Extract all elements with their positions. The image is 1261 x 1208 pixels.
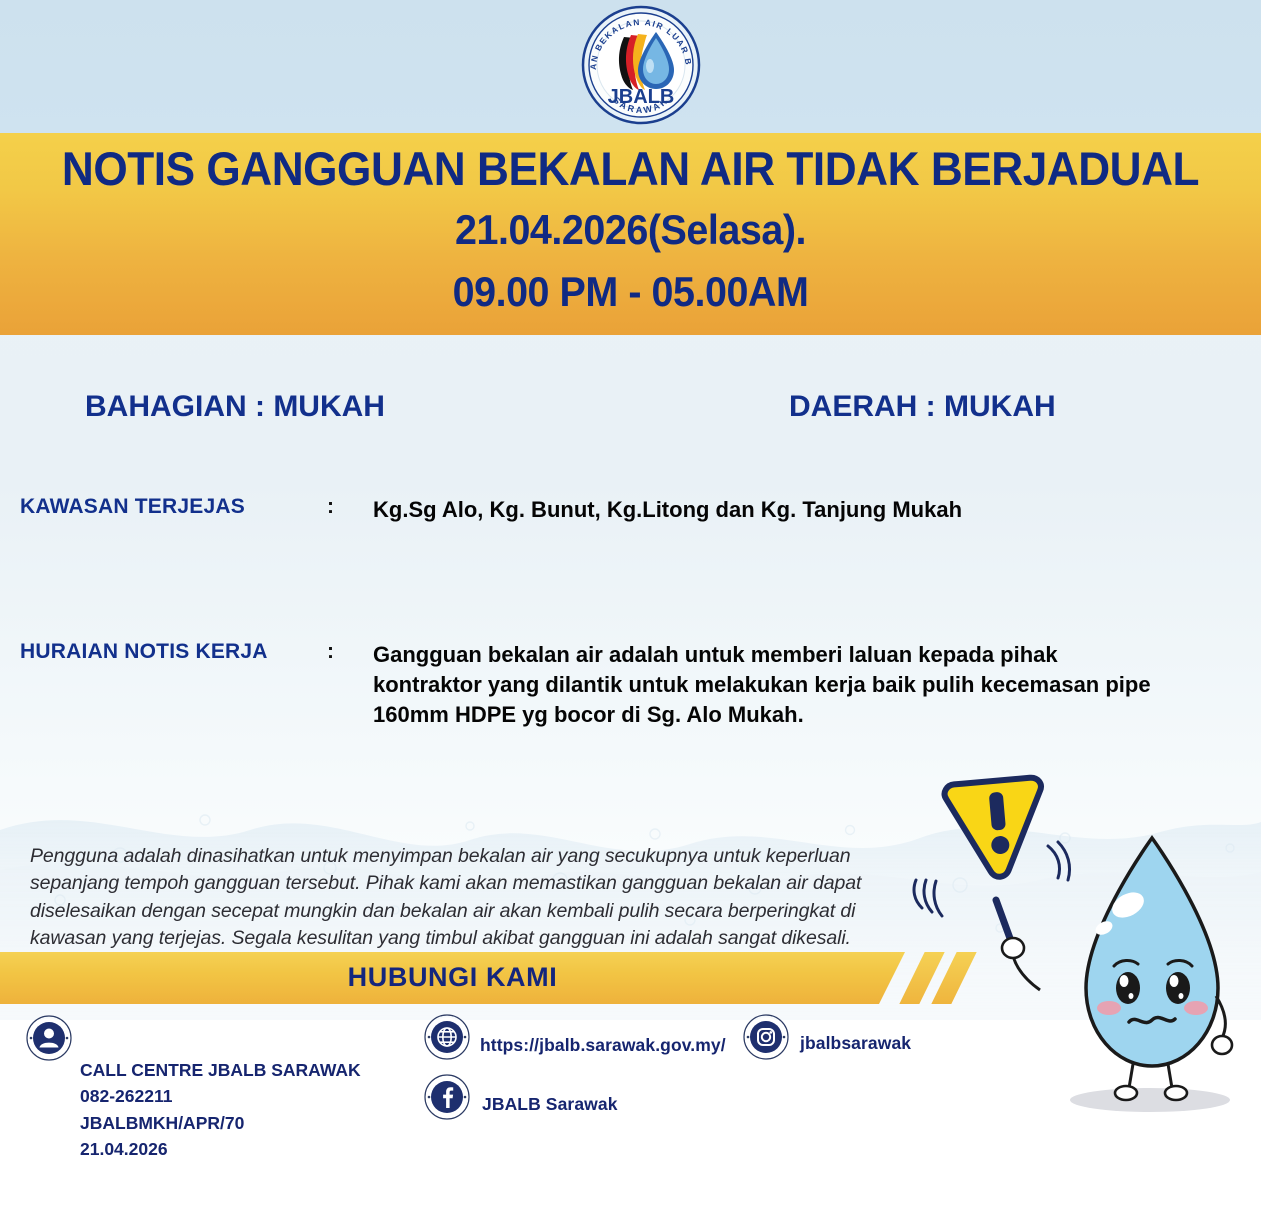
- notice-title-line1: NOTIS GANGGUAN BEKALAN AIR TIDAK BERJADU…: [38, 145, 1223, 192]
- region-row: BAHAGIAN : MUKAH DAERAH : MUKAH: [0, 390, 1261, 430]
- notice-title-line2: 21.04.2026(Selasa).: [38, 209, 1223, 251]
- water-droplet-mascot: [900, 760, 1261, 1200]
- instagram-label[interactable]: jbalbsarawak: [800, 1033, 911, 1054]
- instagram-icon[interactable]: [743, 1014, 789, 1060]
- facebook-icon[interactable]: [424, 1074, 470, 1120]
- daerah-label: DAERAH : MUKAH: [789, 390, 1056, 424]
- notice-title-line3: 09.00 PM - 05.00AM: [38, 271, 1223, 313]
- contact-banner-label: HUBUNGI KAMI: [0, 962, 905, 993]
- person-icon: [26, 1015, 72, 1061]
- info-area: BAHAGIAN : MUKAH DAERAH : MUKAH KAWASAN …: [0, 335, 1261, 775]
- advisory-paragraph: Pengguna adalah dinasihatkan untuk menyi…: [30, 843, 900, 952]
- globe-icon-svg: [424, 1014, 470, 1060]
- call-centre-phone: 082-262211: [80, 1083, 361, 1109]
- call-centre-reference: JBALBMKH/APR/70: [80, 1110, 361, 1136]
- kawasan-colon: :: [327, 495, 334, 519]
- notice-poster: JBALB JABATAN BEKALAN AIR LUAR BANDAR SA…: [0, 0, 1261, 1208]
- instagram-icon-svg: [743, 1014, 789, 1060]
- call-centre-block: CALL CENTRE JBALB SARAWAK 082-262211 JBA…: [80, 1057, 361, 1162]
- call-centre-name: CALL CENTRE JBALB SARAWAK: [80, 1057, 361, 1083]
- kawasan-value: Kg.Sg Alo, Kg. Bunut, Kg.Litong dan Kg. …: [373, 495, 1163, 525]
- jbalb-logo: JBALB JABATAN BEKALAN AIR LUAR BANDAR SA…: [578, 4, 704, 126]
- title-banner: NOTIS GANGGUAN BEKALAN AIR TIDAK BERJADU…: [0, 133, 1261, 335]
- call-centre-date: 21.04.2026: [80, 1136, 361, 1162]
- website-label[interactable]: https://jbalb.sarawak.gov.my/: [480, 1035, 726, 1056]
- huraian-value: Gangguan bekalan air adalah untuk member…: [373, 640, 1163, 730]
- huraian-label: HURAIAN NOTIS KERJA: [20, 640, 268, 664]
- huraian-colon: :: [327, 640, 334, 664]
- bahagian-label: BAHAGIAN : MUKAH: [85, 390, 385, 424]
- kawasan-label: KAWASAN TERJEJAS: [20, 495, 245, 519]
- globe-icon[interactable]: [424, 1014, 470, 1060]
- facebook-icon-svg: [424, 1074, 470, 1120]
- person-icon-svg: [26, 1015, 72, 1061]
- water-droplet-mascot-svg: [900, 760, 1261, 1200]
- jbalb-logo-svg: JBALB JABATAN BEKALAN AIR LUAR BANDAR SA…: [578, 4, 704, 126]
- facebook-label[interactable]: JBALB Sarawak: [482, 1094, 618, 1115]
